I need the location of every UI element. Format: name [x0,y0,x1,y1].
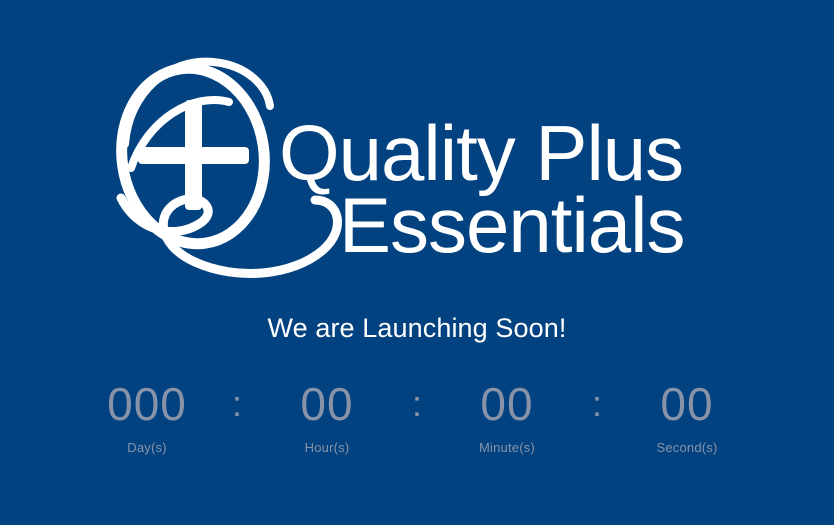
countdown-timer: 000 Day(s) : 00 Hour(s) : 00 Minute(s) :… [67,380,767,455]
countdown-segment-minutes: 00 Minute(s) [448,380,566,455]
countdown-hours-label: Hour(s) [305,440,350,455]
launching-soon-page: Quality Plus Essentials We are Launching… [0,0,834,525]
countdown-separator-1: : [206,380,268,428]
countdown-segment-days: 000 Day(s) [88,380,206,455]
countdown-days-label: Day(s) [127,440,166,455]
countdown-seconds-label: Second(s) [656,440,717,455]
countdown-segment-hours: 00 Hour(s) [268,380,386,455]
countdown-minutes-label: Minute(s) [479,440,535,455]
plus-cross-icon [138,100,249,210]
logo-svg: Quality Plus Essentials [107,48,727,298]
brand-logo: Quality Plus Essentials [107,48,727,298]
countdown-seconds-value: 00 [660,380,713,428]
countdown-hours-value: 00 [300,380,353,428]
launch-tagline: We are Launching Soon! [268,314,567,344]
countdown-minutes-value: 00 [480,380,533,428]
countdown-separator-2: : [386,380,448,428]
countdown-separator-3: : [566,380,628,428]
countdown-segment-seconds: 00 Second(s) [628,380,746,455]
countdown-days-value: 000 [107,380,187,428]
logo-wordmark-line2: Essentials [339,181,685,269]
